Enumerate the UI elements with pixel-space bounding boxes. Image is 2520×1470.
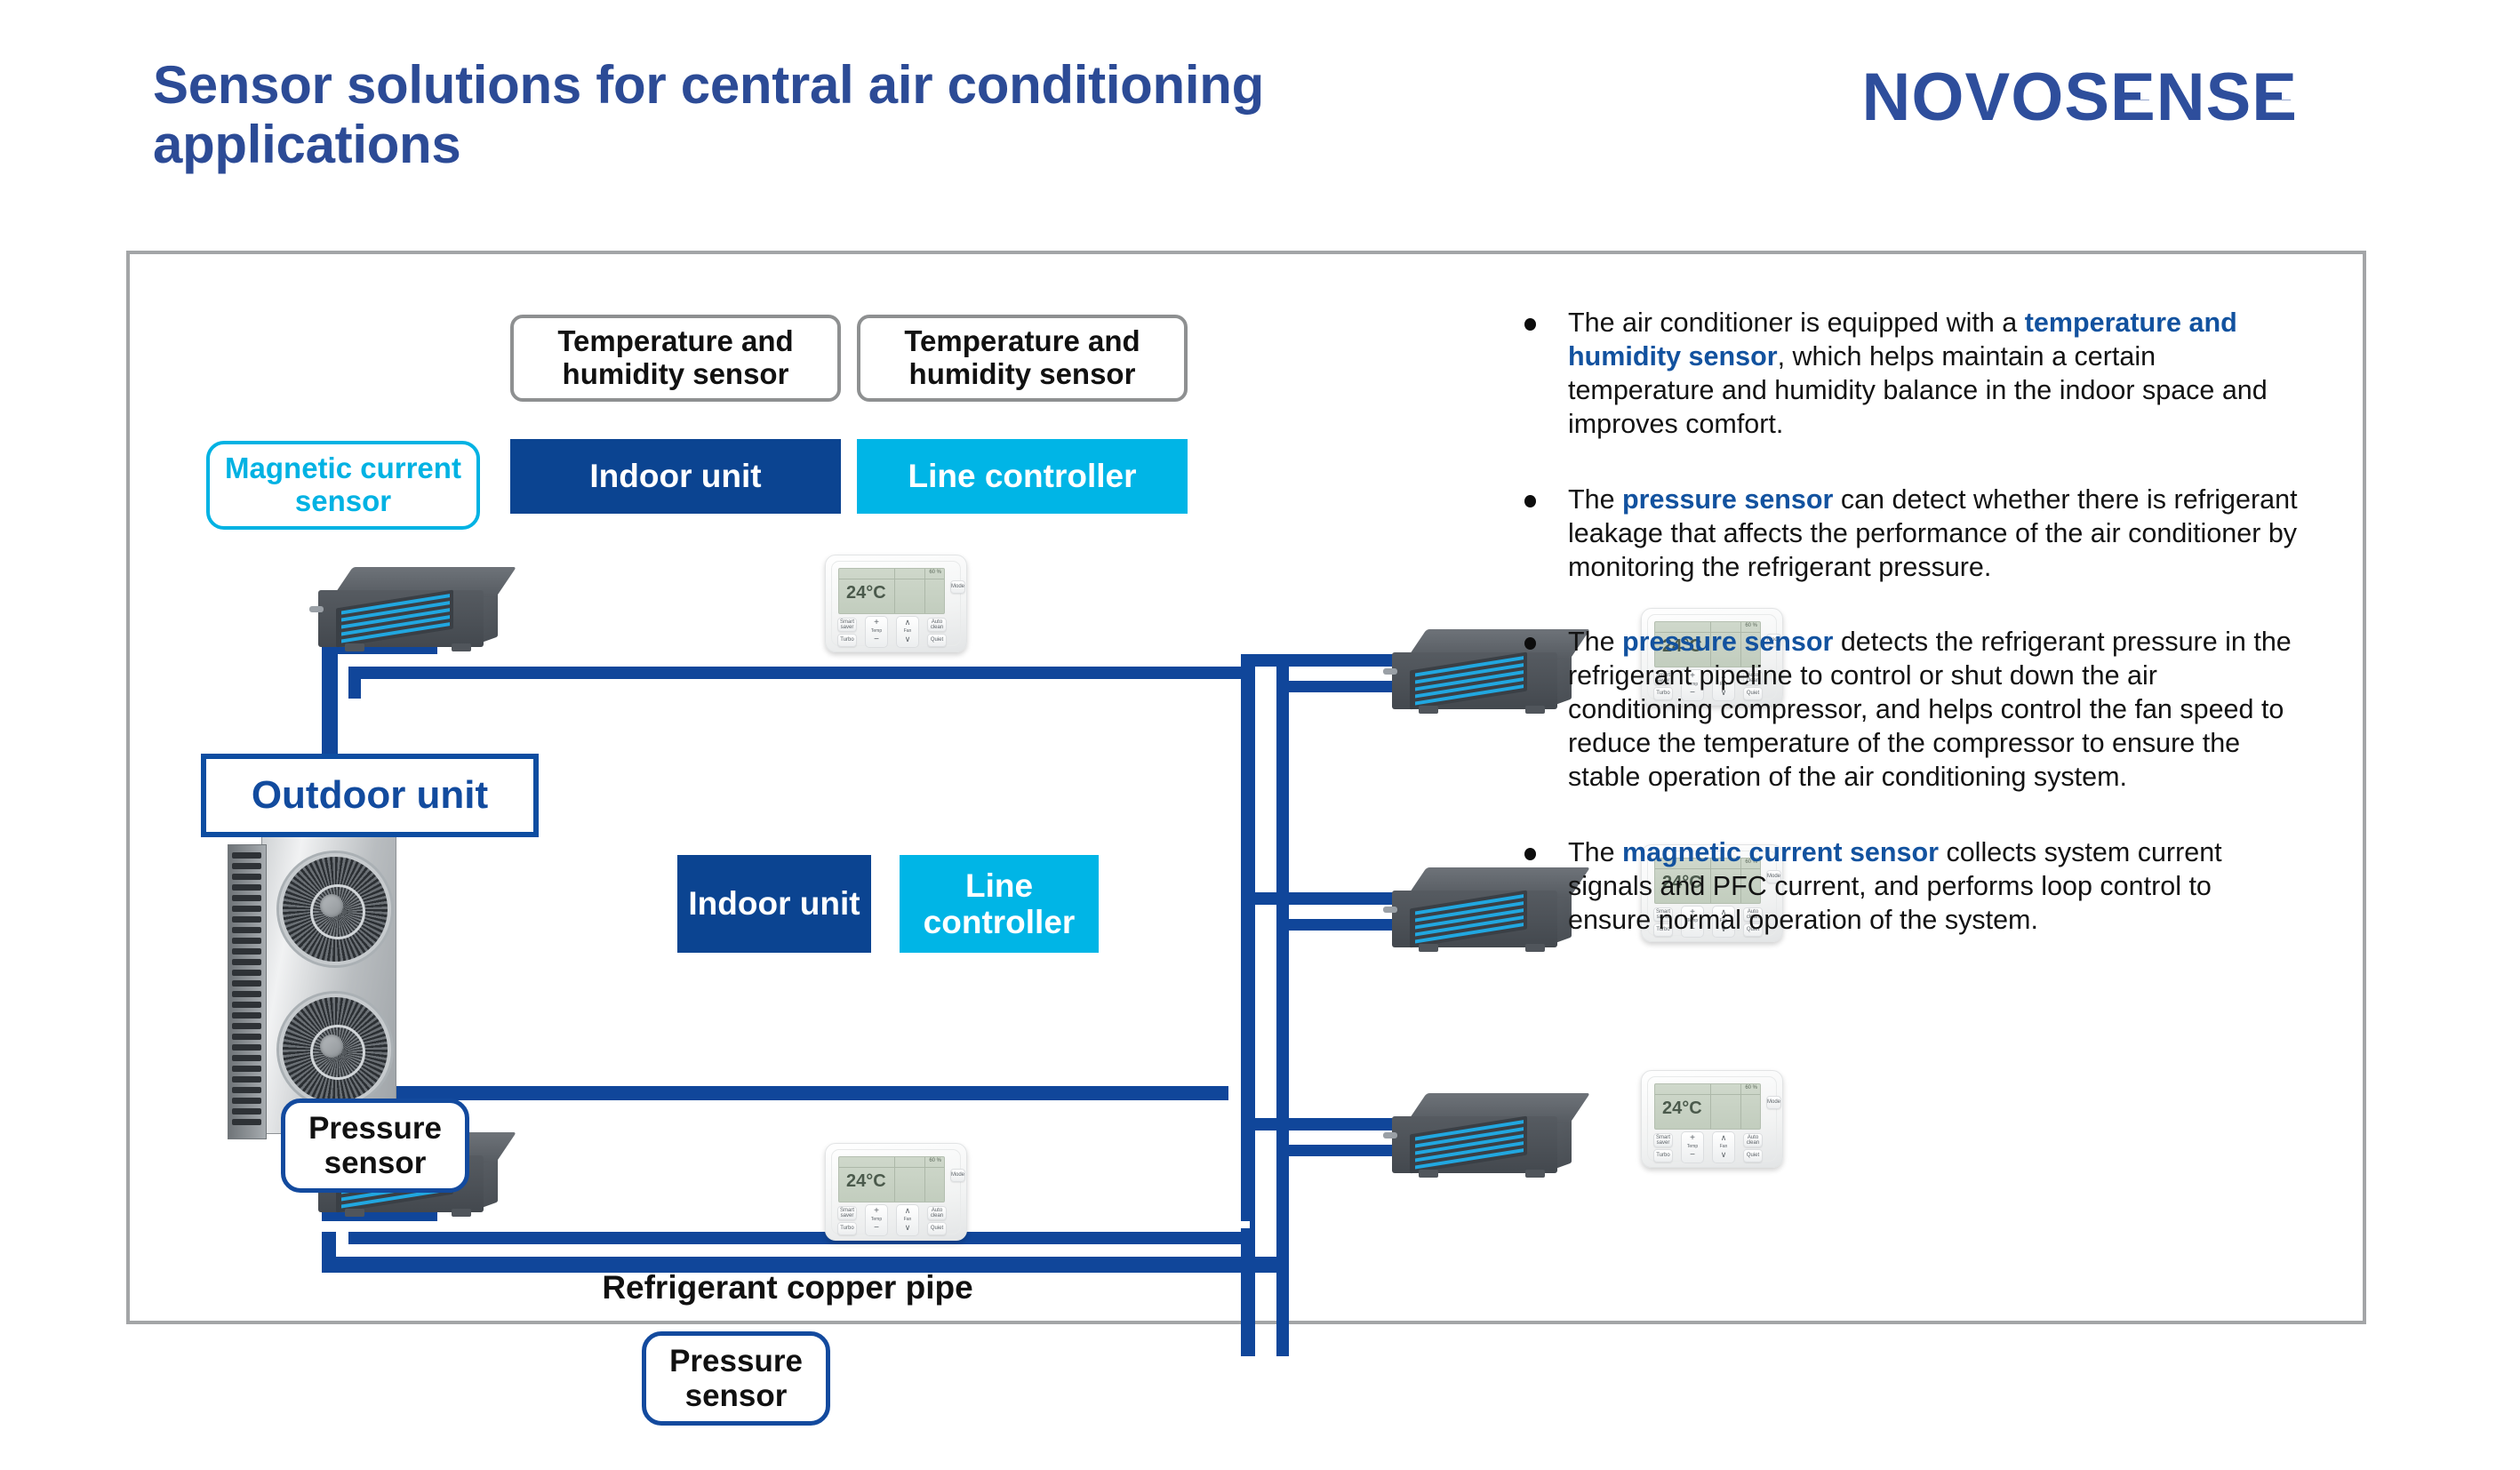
humidity-readout: 60 %	[929, 570, 941, 575]
fan-stepper[interactable]: ∧ Fan ∨	[1712, 1131, 1735, 1163]
pipe-trunk-inner	[1276, 654, 1289, 1356]
temp-stepper[interactable]: + Temp −	[865, 1204, 888, 1236]
fan-up[interactable]: ∧	[897, 618, 918, 627]
fan-down[interactable]: ∨	[897, 1223, 918, 1233]
temp-minus[interactable]: −	[866, 635, 887, 644]
list-item: The pressure sensor can detect whether t…	[1516, 483, 2299, 584]
label-refrigerant-copper-pipe: Refrigerant copper pipe	[548, 1264, 1028, 1312]
turbo-button[interactable]: Turbo	[1653, 1149, 1673, 1162]
pipe-inner-gap	[361, 1221, 1250, 1228]
temp-label: Temp	[866, 1217, 887, 1222]
temperature-readout: 24°C	[846, 583, 886, 603]
thermostat-display: 60 % 24°C	[1654, 1083, 1761, 1130]
list-item: The magnetic current sensor collects sys…	[1516, 835, 2299, 937]
label-indoor-unit-top: Indoor unit	[510, 439, 841, 514]
label-temperature-humidity-sensor-2: Temperature and humidity sensor	[857, 315, 1188, 402]
list-item: The pressure sensor detects the refriger…	[1516, 625, 2299, 795]
bullet-dot-icon	[1524, 495, 1536, 507]
temp-plus[interactable]: +	[1682, 1133, 1703, 1143]
temp-minus[interactable]: −	[1682, 1150, 1703, 1160]
fan-down[interactable]: ∨	[1713, 1150, 1734, 1160]
bullet-text-strong: magnetic current sensor	[1622, 837, 1939, 867]
temp-minus[interactable]: −	[866, 1223, 887, 1233]
humidity-readout: 60 %	[1745, 1085, 1757, 1091]
line-controller-device[interactable]: 60 % 24°C Mode Smart saver Turbo + Temp …	[1641, 1070, 1783, 1168]
diagram-frame: 60 % 24°C Mode Smart saver Turbo + Temp …	[126, 251, 2366, 1324]
smart-saver-button[interactable]: Smart saver	[837, 618, 857, 632]
fan-label: Fan	[1713, 1144, 1734, 1149]
pipe-branch-top	[1241, 654, 1401, 667]
thermostat-display: 60 % 24°C	[838, 568, 945, 614]
bullet-text-pre: The	[1568, 837, 1622, 867]
temperature-readout: 24°C	[846, 1171, 886, 1192]
indoor-unit-image	[1392, 1093, 1574, 1182]
turbo-button[interactable]: Turbo	[837, 1222, 857, 1235]
novosense-logo: NOVOSENSE	[1862, 59, 2298, 136]
line-controller-device[interactable]: 60 % 24°C Mode Smart saver Turbo + Temp …	[825, 555, 967, 652]
quiet-button[interactable]: Quiet	[927, 634, 947, 647]
bullet-text-pre: The	[1568, 627, 1622, 657]
smart-saver-button[interactable]: Smart saver	[837, 1206, 857, 1220]
turbo-button[interactable]: Turbo	[837, 634, 857, 647]
temp-stepper[interactable]: + Temp −	[1681, 1131, 1704, 1163]
bullet-dot-icon	[1524, 318, 1536, 331]
bullet-text-pre: The air conditioner is equipped with a	[1568, 308, 2025, 338]
pipe-segment	[322, 1086, 1228, 1100]
quiet-button[interactable]: Quiet	[1743, 1149, 1763, 1162]
fan-down[interactable]: ∨	[897, 635, 918, 644]
temp-label: Temp	[866, 628, 887, 634]
fan-label: Fan	[897, 628, 918, 634]
pipe-branch-mid	[1241, 892, 1401, 905]
label-outdoor-unit: Outdoor unit	[201, 754, 539, 837]
bullet-dot-icon	[1524, 637, 1536, 650]
label-indoor-unit-mid: Indoor unit	[677, 855, 871, 953]
bullet-text-pre: The	[1568, 484, 1622, 515]
label-magnetic-current-sensor: Magnetic current sensor	[206, 441, 480, 530]
indoor-unit-image	[318, 567, 500, 656]
mode-button[interactable]: Mode	[950, 1169, 965, 1182]
brand-text: NOVOSENSE	[1862, 60, 2298, 135]
bullet-list: The air conditioner is equipped with a t…	[1516, 306, 2299, 978]
pipe-return-riser	[322, 1232, 336, 1273]
bullet-dot-icon	[1524, 848, 1536, 860]
line-controller-device[interactable]: 60 % 24°C Mode Smart saver Turbo + Temp …	[825, 1143, 967, 1241]
thermostat-display: 60 % 24°C	[838, 1156, 945, 1202]
label-pressure-sensor-left: Pressure sensor	[281, 1099, 469, 1193]
bullet-text-strong: pressure sensor	[1622, 484, 1833, 515]
label-line-controller-top: Line controller	[857, 439, 1188, 514]
quiet-button[interactable]: Quiet	[927, 1222, 947, 1235]
mode-button[interactable]: Mode	[1766, 1096, 1781, 1109]
pipe-segment	[348, 667, 361, 699]
pipe-branch-mid2	[1276, 919, 1410, 931]
temperature-readout: 24°C	[1662, 1099, 1702, 1119]
mode-button[interactable]: Mode	[950, 580, 965, 594]
pipe-trunk-outer	[1241, 654, 1255, 1356]
temp-label: Temp	[1682, 1144, 1703, 1149]
temp-stepper[interactable]: + Temp −	[865, 616, 888, 648]
fan-up[interactable]: ∧	[1713, 1133, 1734, 1143]
label-temperature-humidity-sensor-1: Temperature and humidity sensor	[510, 315, 841, 402]
smart-saver-button[interactable]: Smart saver	[1653, 1133, 1673, 1147]
fan-up[interactable]: ∧	[897, 1206, 918, 1216]
label-pressure-sensor-bottom: Pressure sensor	[642, 1331, 830, 1426]
pipe-branch-bot2	[1276, 1145, 1410, 1156]
page-title: Sensor solutions for central air conditi…	[153, 55, 1540, 174]
auto-clean-button[interactable]: Auto clean	[1743, 1133, 1763, 1147]
pipe-branch-top2	[1276, 681, 1410, 692]
pipe-segment	[348, 667, 1255, 679]
fan-label: Fan	[897, 1217, 918, 1222]
list-item: The air conditioner is equipped with a t…	[1516, 306, 2299, 442]
auto-clean-button[interactable]: Auto clean	[927, 1206, 947, 1220]
pipe-branch-bot	[1241, 1118, 1401, 1130]
pipe-inner-gap	[361, 679, 1255, 686]
pipe-segment	[348, 1232, 1255, 1244]
fan-stepper[interactable]: ∧ Fan ∨	[896, 616, 919, 648]
bullet-text-strong: pressure sensor	[1622, 627, 1833, 657]
temp-plus[interactable]: +	[866, 1206, 887, 1216]
fan-stepper[interactable]: ∧ Fan ∨	[896, 1204, 919, 1236]
temp-plus[interactable]: +	[866, 618, 887, 627]
humidity-readout: 60 %	[929, 1158, 941, 1163]
label-line-controller-mid: Line controller	[900, 855, 1099, 953]
auto-clean-button[interactable]: Auto clean	[927, 618, 947, 632]
